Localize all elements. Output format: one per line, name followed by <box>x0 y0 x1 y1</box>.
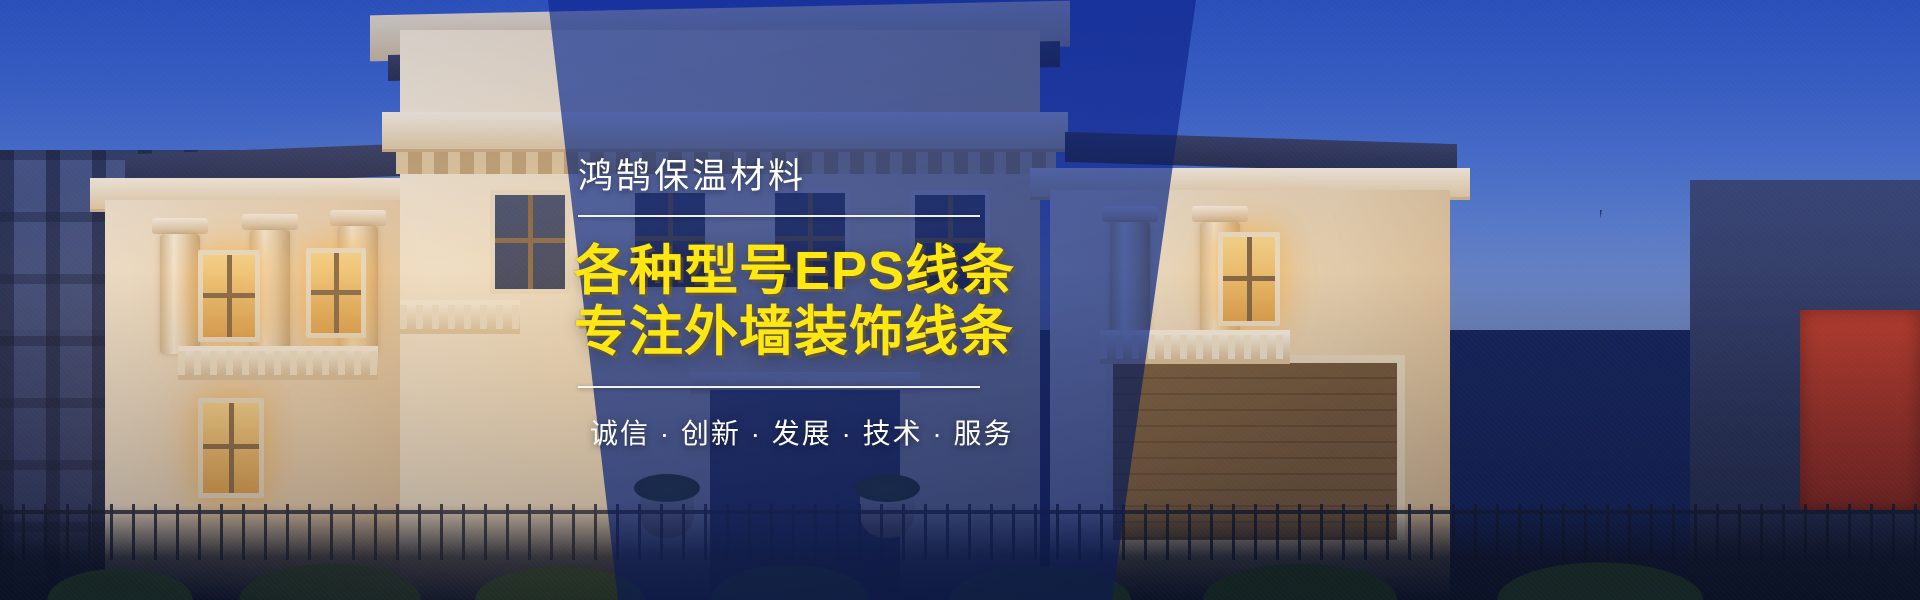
window-lit <box>198 398 264 498</box>
column-capital <box>330 210 386 226</box>
window-lit <box>1218 232 1280 326</box>
headline-line-2: 专注外墙装饰线条 <box>574 302 1015 362</box>
column-capital <box>1192 206 1248 222</box>
window-mullion <box>203 444 259 449</box>
column-capital <box>152 218 208 234</box>
red-billboard <box>1800 310 1920 510</box>
column-capital <box>1102 206 1158 222</box>
window-mullion <box>311 290 361 295</box>
headline-line-1: 各种型号EPS线条 <box>574 241 1015 301</box>
hero-banner: 鸿鹄保温材料 各种型号EPS线条 专注外墙装饰线条 诚信 · 创新 · 发展 ·… <box>0 0 1920 600</box>
company-name: 鸿鹄保温材料 <box>578 148 806 199</box>
tree-branch <box>1600 210 1800 350</box>
window-mullion <box>1223 276 1275 281</box>
banner-text-block: 鸿鹄保温材料 各种型号EPS线条 专注外墙装饰线条 诚信 · 创新 · 发展 ·… <box>560 0 1030 600</box>
column <box>160 234 200 354</box>
window-mullion <box>203 293 255 298</box>
window-lit <box>306 248 366 338</box>
window-mullion <box>495 238 565 243</box>
window-lit <box>198 250 260 342</box>
balustrade <box>1100 330 1290 364</box>
headline: 各种型号EPS线条 专注外墙装饰线条 <box>574 241 1015 362</box>
balustrade <box>178 346 378 380</box>
divider-bottom <box>578 386 980 388</box>
window-dark <box>490 190 570 294</box>
tagline: 诚信 · 创新 · 发展 · 技术 · 服务 <box>590 412 1014 452</box>
column-capital <box>242 214 298 230</box>
divider-top <box>578 215 980 217</box>
balustrade <box>400 300 520 334</box>
